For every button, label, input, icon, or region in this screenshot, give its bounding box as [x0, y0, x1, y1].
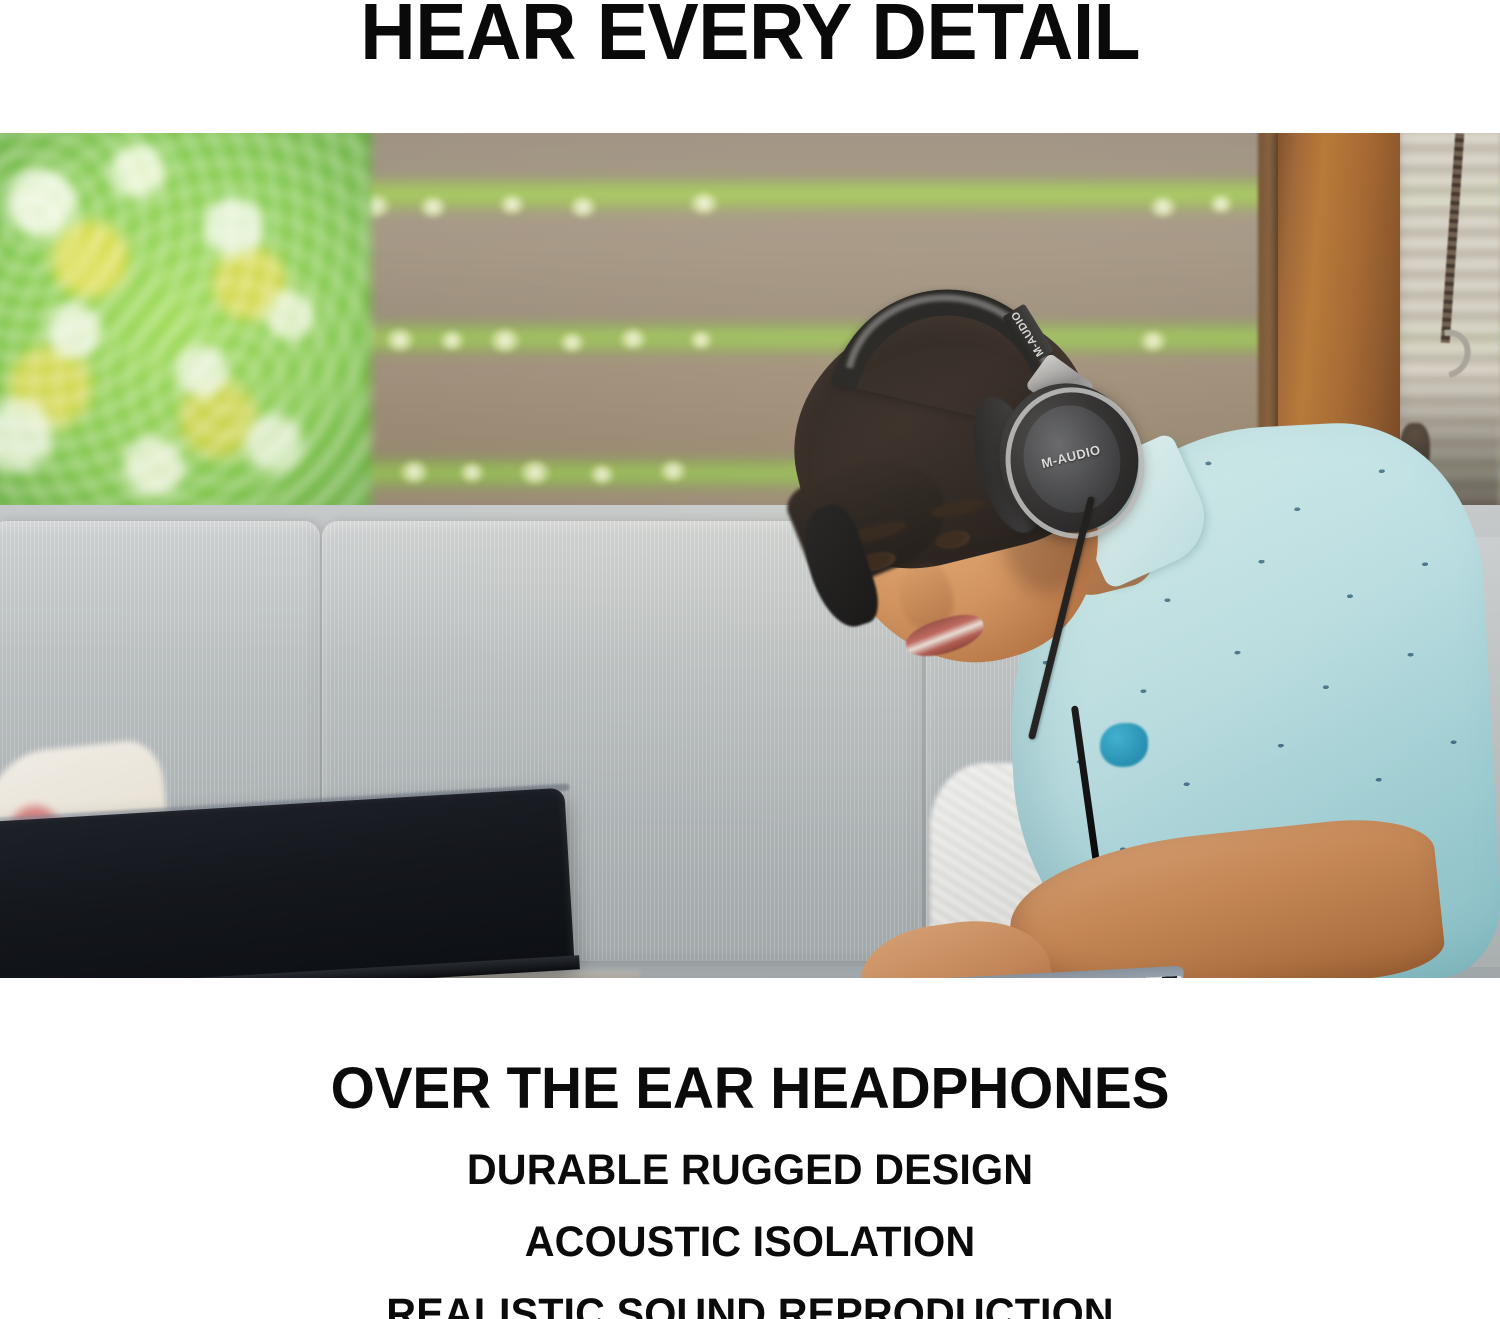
- bokeh-highlight: [570, 197, 596, 217]
- bokeh-highlight: [440, 331, 464, 350]
- bokeh-highlight: [1210, 195, 1232, 213]
- laptop-lid: [0, 788, 575, 978]
- bokeh-highlight: [490, 329, 520, 352]
- bokeh-highlight: [500, 195, 524, 214]
- bokeh-highlight: [590, 465, 614, 484]
- feature-line-2: ACOUSTIC ISOLATION: [30, 1221, 1470, 1264]
- teal-cable-clip: [1100, 723, 1148, 767]
- page-title: HEAR EVERY DETAIL: [360, 0, 1140, 72]
- bokeh-highlight: [690, 331, 712, 349]
- bokeh-highlight: [1140, 331, 1166, 351]
- bokeh-highlight: [400, 461, 428, 483]
- bokeh-highlight: [1150, 197, 1176, 217]
- bokeh-highlight: [420, 197, 446, 217]
- feature-line-3: REALISTIC SOUND REPRODUCTION: [30, 1293, 1470, 1319]
- headline-band: HEAR EVERY DETAIL: [0, 0, 1500, 133]
- feature-heading: OVER THE EAR HEADPHONES: [15, 1060, 1485, 1118]
- bokeh-highlight: [660, 461, 686, 481]
- feature-line-1: DURABLE RUGGED DESIGN: [30, 1149, 1470, 1192]
- bokeh-highlight: [460, 463, 484, 482]
- foliage-texture: [0, 133, 370, 523]
- product-lifestyle-photo: M-AUDIO M-AUDIO M-AUDI: [0, 133, 1500, 978]
- bokeh-highlight: [520, 461, 550, 484]
- bokeh-highlight: [620, 329, 646, 349]
- bokeh-highlight: [386, 329, 414, 351]
- feature-copy-block: OVER THE EAR HEADPHONES DURABLE RUGGED D…: [0, 978, 1500, 1319]
- bokeh-highlight: [560, 333, 584, 352]
- bokeh-highlight: [690, 193, 718, 214]
